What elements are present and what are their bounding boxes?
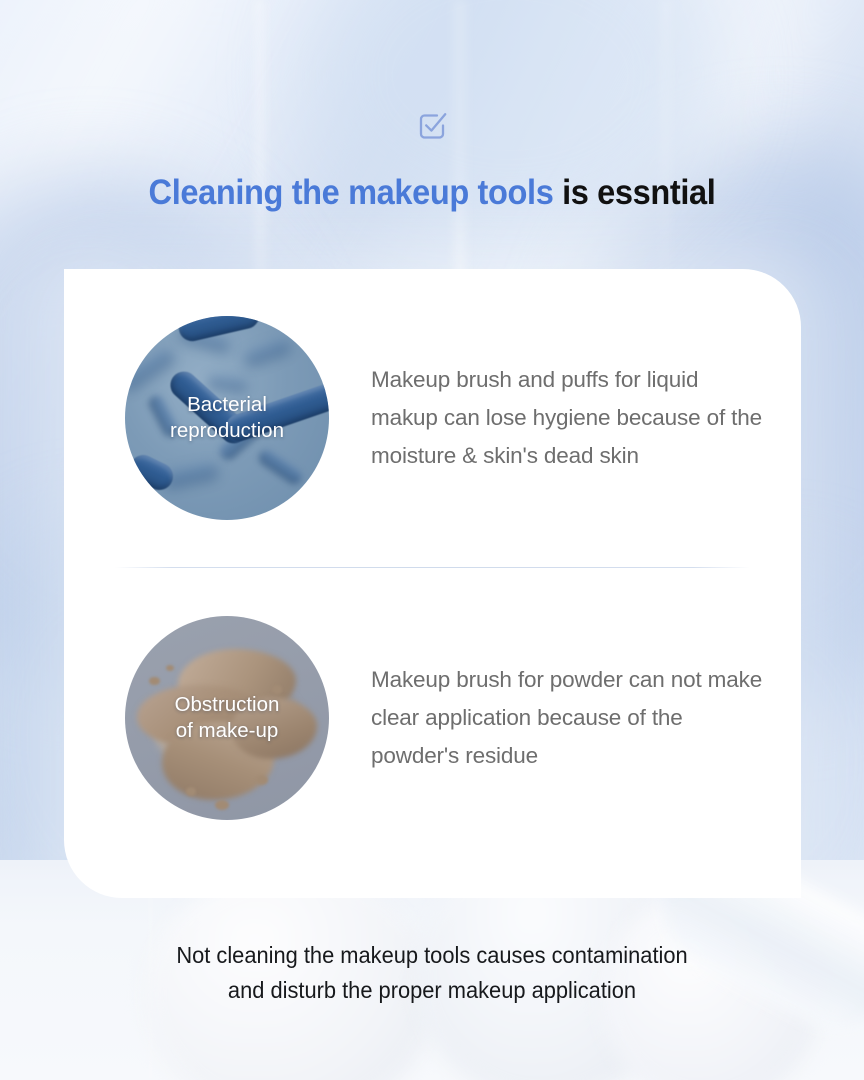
content-row-bacteria: Bacterialreproduction Makeup brush and p… (64, 269, 801, 567)
content-card: Bacterialreproduction Makeup brush and p… (64, 269, 801, 898)
powder-caption-line2: of make-up (176, 719, 279, 742)
bacteria-caption-line2: reproduction (170, 419, 284, 442)
powder-body-text: Makeup brush for powder can not make cle… (371, 661, 771, 775)
bacteria-photo-caption: Bacterialreproduction (162, 392, 292, 444)
powder-caption-line1: Obstruction (175, 693, 280, 716)
page-title-highlight: Cleaning the makeup tools (149, 173, 554, 212)
bacteria-body-text: Makeup brush and puffs for liquid makup … (371, 361, 771, 475)
infographic-page: Cleaning the makeup tools is essntial (0, 0, 864, 1080)
page-title-rest: is essntial (553, 173, 715, 212)
header: Cleaning the makeup tools is essntial (0, 0, 864, 212)
powder-photo: Obstructionof make-up (125, 616, 329, 820)
footer-line-1: Not cleaning the makeup tools causes con… (22, 938, 843, 973)
powder-photo-caption: Obstructionof make-up (167, 692, 288, 744)
bacteria-photo: Bacterialreproduction (125, 316, 329, 520)
footer-line-2: and disturb the proper makeup applicatio… (22, 973, 843, 1008)
footer-caption: Not cleaning the makeup tools causes con… (22, 938, 843, 1008)
page-title: Cleaning the makeup tools is essntial (30, 173, 834, 212)
content-row-powder: Obstructionof make-up Makeup brush for p… (64, 568, 801, 868)
checkbox-check-icon (413, 106, 451, 144)
bacteria-caption-line1: Bacterial (187, 393, 267, 416)
